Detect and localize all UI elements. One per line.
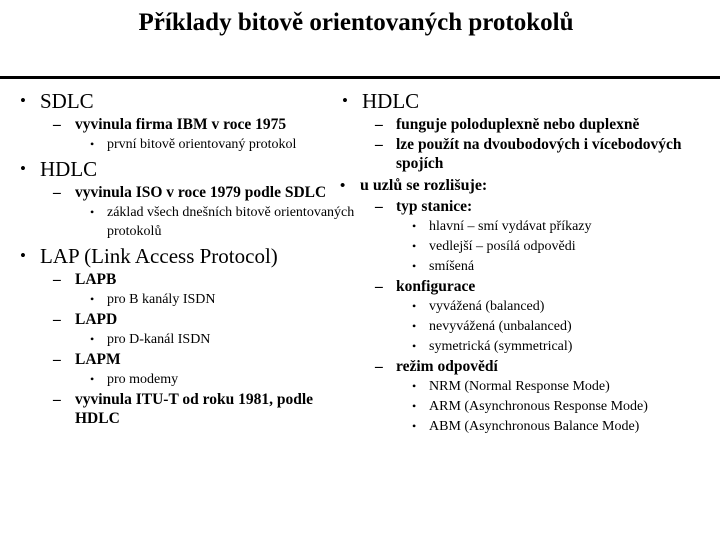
bullet-item-level-3: •první bitově orientovaný protokol — [14, 135, 358, 154]
bullet-dot-icon: • — [90, 290, 108, 309]
bullet-dot-icon: • — [342, 88, 362, 114]
bullet-item-label: nevyvážená (unbalanced) — [429, 317, 720, 336]
bullet-item-label: vedlejší – posílá odpovědi — [429, 237, 720, 256]
bullet-dash-icon: – — [375, 197, 397, 216]
bullet-dot-icon: • — [20, 156, 40, 182]
bullet-item-level-2: –vyvinula ISO v roce 1979 podle SDLC — [14, 183, 358, 202]
bullet-item-level-3: •vyvážená (balanced) — [334, 297, 720, 316]
bullet-item-label: lze použít na dvoubodových i vícebodovýc… — [396, 135, 720, 173]
bullet-dash-icon: – — [53, 390, 75, 409]
bullet-item-level-2: –typ stanice: — [334, 197, 720, 216]
bullet-dot-icon: • — [412, 217, 430, 236]
bullet-item-level-3: •symetrická (symmetrical) — [334, 337, 720, 356]
bullet-item-level-2: –LAPM — [14, 350, 358, 369]
title-divider — [0, 76, 720, 79]
bullet-dot-icon: • — [90, 135, 108, 154]
bullet-dash-icon: – — [375, 115, 397, 134]
left-content-column: •SDLC–vyvinula firma IBM v roce 1975•prv… — [14, 86, 358, 428]
bullet-item-label: vyvinula firma IBM v roce 1975 — [75, 115, 358, 134]
bullet-item-level-3: •hlavní – smí vydávat příkazy — [334, 217, 720, 236]
bullet-item-level-1: •HDLC — [14, 156, 358, 182]
right-content-column: •HDLC–funguje poloduplexně nebo duplexně… — [334, 86, 720, 436]
bullet-item-level-3: •pro modemy — [14, 370, 358, 389]
bullet-item-level-3: •pro B kanály ISDN — [14, 290, 358, 309]
bullet-item-level-3: •nevyvážená (unbalanced) — [334, 317, 720, 336]
bullet-dot-icon: • — [412, 257, 430, 276]
bullet-dot-icon: • — [412, 297, 430, 316]
bullet-item-level-3: •ABM (Asynchronous Balance Mode) — [334, 417, 720, 436]
bullet-item-level-2: –vyvinula ITU-T od roku 1981, podle HDLC — [14, 390, 358, 428]
bullet-dot-icon: • — [412, 317, 430, 336]
bullet-item-level-2: –funguje poloduplexně nebo duplexně — [334, 115, 720, 134]
bullet-item-level-3: •pro D-kanál ISDN — [14, 330, 358, 349]
bullet-item-level-3: •základ všech dnešních bitově orientovan… — [14, 203, 358, 241]
bullet-dot-icon: • — [412, 397, 430, 416]
bullet-item-level-3: •smíšená — [334, 257, 720, 276]
bullet-item-label: režim odpovědí — [396, 357, 720, 376]
bullet-dot-icon: • — [412, 337, 430, 356]
bullet-item-level-2: –konfigurace — [334, 277, 720, 296]
bullet-item-level-1b: •u uzlů se rozlišuje: — [334, 176, 720, 196]
bullet-item-label: vyvážená (balanced) — [429, 297, 720, 316]
bullet-item-label: ABM (Asynchronous Balance Mode) — [429, 417, 720, 436]
bullet-item-label: smíšená — [429, 257, 720, 276]
bullet-dash-icon: – — [375, 357, 397, 376]
bullet-dot-icon: • — [90, 370, 108, 389]
bullet-item-label: první bitově orientovaný protokol — [107, 135, 358, 154]
bullet-item-level-3: •vedlejší – posílá odpovědi — [334, 237, 720, 256]
bullet-item-level-2: –vyvinula firma IBM v roce 1975 — [14, 115, 358, 134]
page-title: Příklady bitově orientovaných protokolů — [0, 8, 712, 38]
bullet-item-label: funguje poloduplexně nebo duplexně — [396, 115, 720, 134]
bullet-dash-icon: – — [53, 270, 75, 289]
bullet-item-label: HDLC — [362, 88, 720, 114]
bullet-dot-icon: • — [412, 377, 430, 396]
bullet-item-level-1: •SDLC — [14, 88, 358, 114]
bullet-item-label: SDLC — [40, 88, 358, 114]
bullet-item-label: konfigurace — [396, 277, 720, 296]
bullet-dash-icon: – — [53, 350, 75, 369]
bullet-dot-icon: • — [90, 330, 108, 349]
bullet-dot-icon: • — [90, 203, 108, 222]
bullet-item-level-2: –režim odpovědí — [334, 357, 720, 376]
bullet-item-level-2: –LAPD — [14, 310, 358, 329]
bullet-item-level-2: –LAPB — [14, 270, 358, 289]
bullet-dot-icon: • — [340, 176, 360, 196]
bullet-item-label: základ všech dnešních bitově orientovaný… — [107, 203, 358, 241]
bullet-item-label: HDLC — [40, 156, 358, 182]
bullet-item-label: LAPD — [75, 310, 358, 329]
bullet-item-label: LAPM — [75, 350, 358, 369]
bullet-item-label: symetrická (symmetrical) — [429, 337, 720, 356]
bullet-dash-icon: – — [375, 277, 397, 296]
bullet-item-level-3: •NRM (Normal Response Mode) — [334, 377, 720, 396]
bullet-item-label: pro B kanály ISDN — [107, 290, 358, 309]
bullet-dot-icon: • — [412, 417, 430, 436]
bullet-item-level-2: –lze použít na dvoubodových i vícebodový… — [334, 135, 720, 173]
bullet-item-label: ARM (Asynchronous Response Mode) — [429, 397, 720, 416]
bullet-dot-icon: • — [412, 237, 430, 256]
bullet-dot-icon: • — [20, 243, 40, 269]
bullet-item-label: typ stanice: — [396, 197, 720, 216]
bullet-item-level-3: •ARM (Asynchronous Response Mode) — [334, 397, 720, 416]
bullet-item-label: u uzlů se rozlišuje: — [360, 176, 720, 196]
bullet-item-label: vyvinula ISO v roce 1979 podle SDLC — [75, 183, 358, 202]
bullet-dash-icon: – — [53, 183, 75, 202]
bullet-dash-icon: – — [53, 310, 75, 329]
bullet-dot-icon: • — [20, 88, 40, 114]
bullet-item-label: vyvinula ITU-T od roku 1981, podle HDLC — [75, 390, 358, 428]
bullet-item-label: pro D-kanál ISDN — [107, 330, 358, 349]
bullet-item-label: hlavní – smí vydávat příkazy — [429, 217, 720, 236]
bullet-item-label: LAP (Link Access Protocol) — [40, 243, 358, 269]
bullet-item-level-1: •LAP (Link Access Protocol) — [14, 243, 358, 269]
bullet-dash-icon: – — [375, 135, 397, 154]
bullet-item-label: pro modemy — [107, 370, 358, 389]
bullet-dash-icon: – — [53, 115, 75, 134]
bullet-item-level-1: •HDLC — [334, 88, 720, 114]
bullet-item-label: LAPB — [75, 270, 358, 289]
bullet-item-label: NRM (Normal Response Mode) — [429, 377, 720, 396]
presentation-slide: Příklady bitově orientovaných protokolů … — [0, 0, 720, 540]
